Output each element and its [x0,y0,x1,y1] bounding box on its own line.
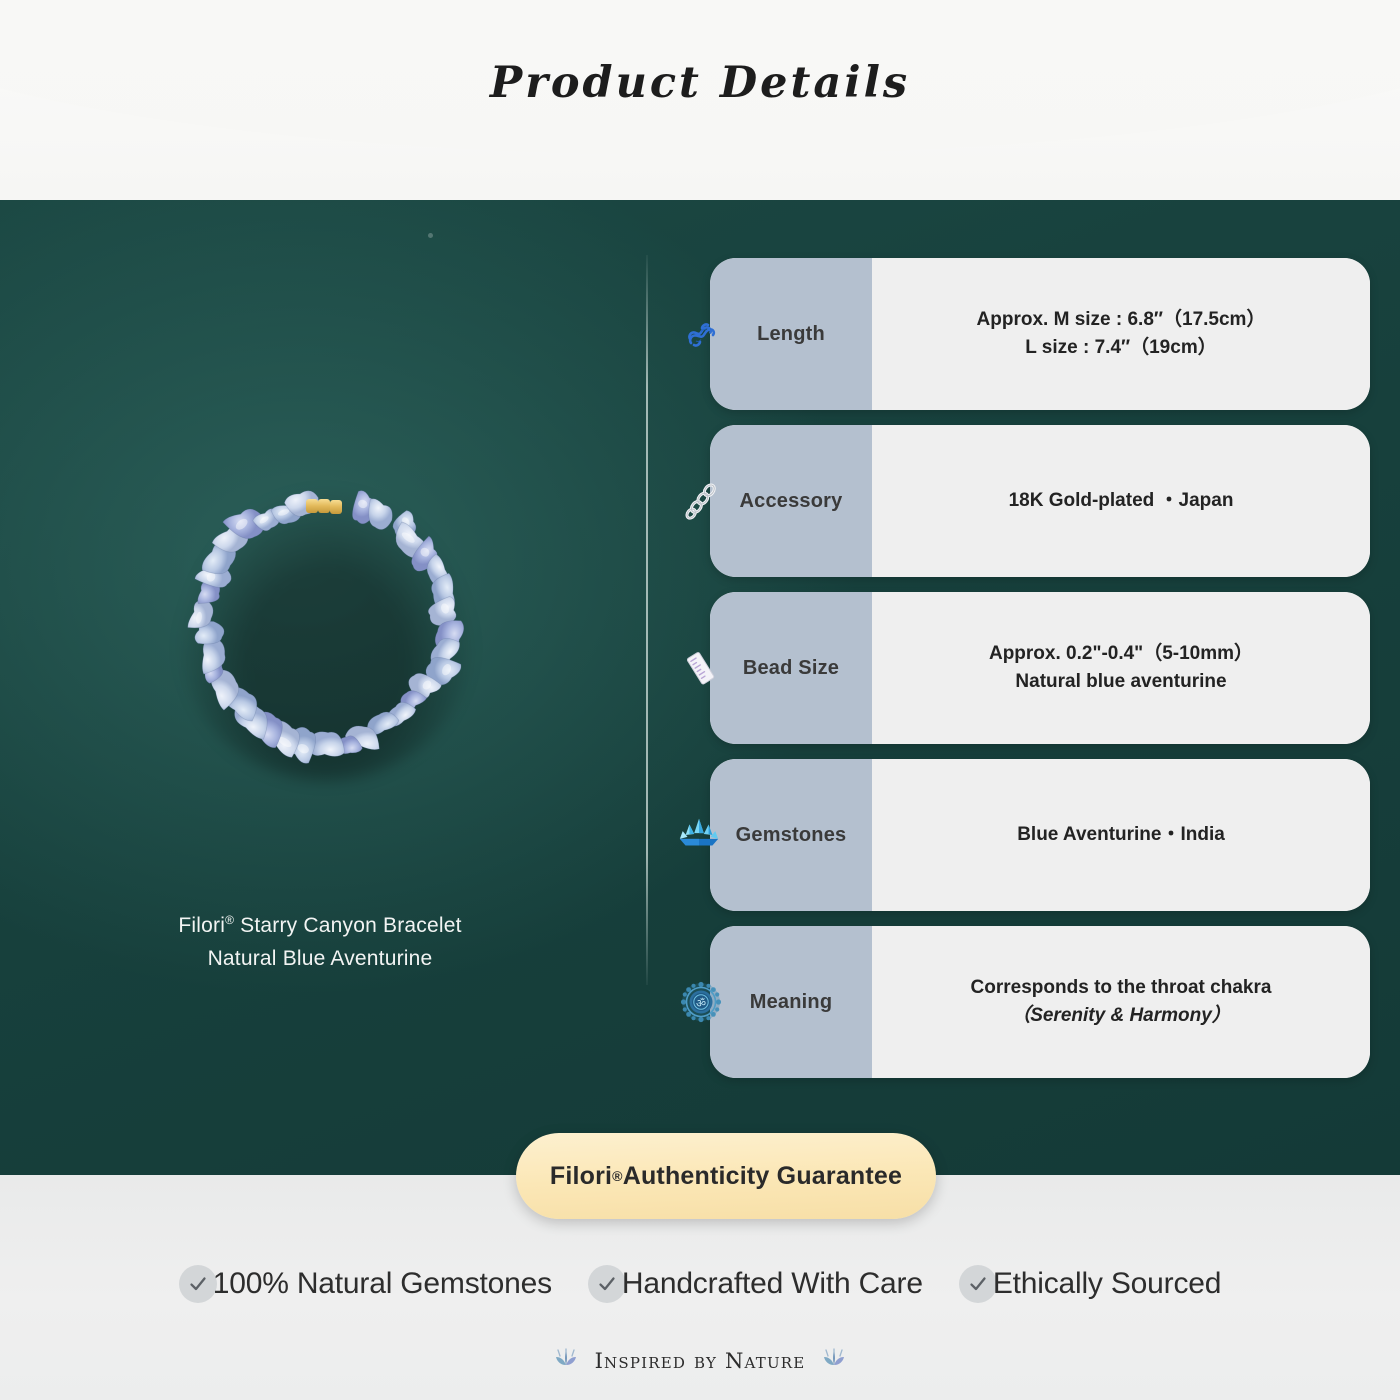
bracelet-photo [160,455,490,785]
product-name-line: Filori® Starry Canyon Bracelet [0,910,640,943]
product-image-area: Filori® Starry Canyon Bracelet Natural B… [0,240,640,1000]
spec-row-accessory[interactable]: Accessory 18K Gold-plated ・Japan [710,425,1370,577]
trust-label: 100% Natural Gemstones [213,1267,552,1301]
spec-row-gemstones[interactable]: Gemstones Blue Aventurine・India [710,759,1370,911]
svg-text:ॐ: ॐ [696,997,706,1010]
trust-item-handcrafted: Handcrafted With Care [588,1265,923,1303]
chain-link-icon [678,478,724,524]
spec-row-length[interactable]: Length Approx. M size : 6.8″（17.5cm） L s… [710,258,1370,410]
footer-tagline: Inspired by Nature [0,1347,1400,1374]
trust-label: Ethically Sourced [993,1267,1221,1301]
spec-value-line1: Blue Aventurine・India [1017,821,1225,850]
spec-row-meaning[interactable]: ॐ Meaning Corresponds to the throat chak… [710,926,1370,1078]
leaf-icon [553,1347,579,1374]
spec-label-meaning: Meaning [710,926,872,1078]
ruler-icon [678,645,724,691]
spec-value-length: Approx. M size : 6.8″（17.5cm） L size : 7… [872,258,1370,410]
spec-value-line1: Approx. 0.2"-0.4"（5-10mm） [989,640,1253,669]
spec-value-line2: Natural blue aventurine [1015,668,1226,697]
product-caption: Filori® Starry Canyon Bracelet Natural B… [0,910,640,975]
guarantee-text-post: Authenticity Guarantee [623,1162,902,1191]
spec-value-bead-size: Approx. 0.2"-0.4"（5-10mm） Natural blue a… [872,592,1370,744]
authenticity-guarantee-badge[interactable]: Filori® Authenticity Guarantee [516,1133,936,1219]
check-icon [588,1265,626,1303]
spec-value-line1: 18K Gold-plated ・Japan [1009,487,1234,516]
spec-value-line2: （Serenity & Harmony） [1011,1002,1231,1031]
check-icon [179,1265,217,1303]
bracelet-illustration [160,455,490,785]
guarantee-text-pre: Filori [550,1162,612,1191]
footer-tagline-text: Inspired by Nature [595,1349,806,1373]
trust-row: 100% Natural Gemstones Handcrafted With … [0,1265,1400,1303]
spec-label-accessory: Accessory [710,425,872,577]
spec-value-line1: Approx. M size : 6.8″（17.5cm） [977,306,1266,335]
vertical-divider [646,255,648,985]
rope-knot-icon [678,311,724,357]
trust-item-natural: 100% Natural Gemstones [179,1265,552,1303]
decorative-particle [428,233,433,238]
spec-value-meaning: Corresponds to the throat chakra （Sereni… [872,926,1370,1078]
product-material-line: Natural Blue Aventurine [0,943,640,976]
spec-value-line1: Corresponds to the throat chakra [971,974,1272,1003]
spec-label-bead-size: Bead Size [710,592,872,744]
spec-value-accessory: 18K Gold-plated ・Japan [872,425,1370,577]
spec-list: Length Approx. M size : 6.8″（17.5cm） L s… [710,258,1370,1093]
chakra-mandala-icon: ॐ [678,979,724,1025]
spec-value-line2: L size : 7.4″（19cm） [1025,334,1216,363]
spec-value-gemstones: Blue Aventurine・India [872,759,1370,911]
spec-label-gemstones: Gemstones [710,759,872,911]
registered-mark: ® [612,1168,623,1184]
trust-item-ethical: Ethically Sourced [959,1265,1221,1303]
spec-label-length: Length [710,258,872,410]
trust-label: Handcrafted With Care [622,1267,923,1301]
spec-row-bead-size[interactable]: Bead Size Approx. 0.2"-0.4"（5-10mm） Natu… [710,592,1370,744]
check-icon [959,1265,997,1303]
leaf-icon [821,1347,847,1374]
crystal-cluster-icon [676,812,722,858]
